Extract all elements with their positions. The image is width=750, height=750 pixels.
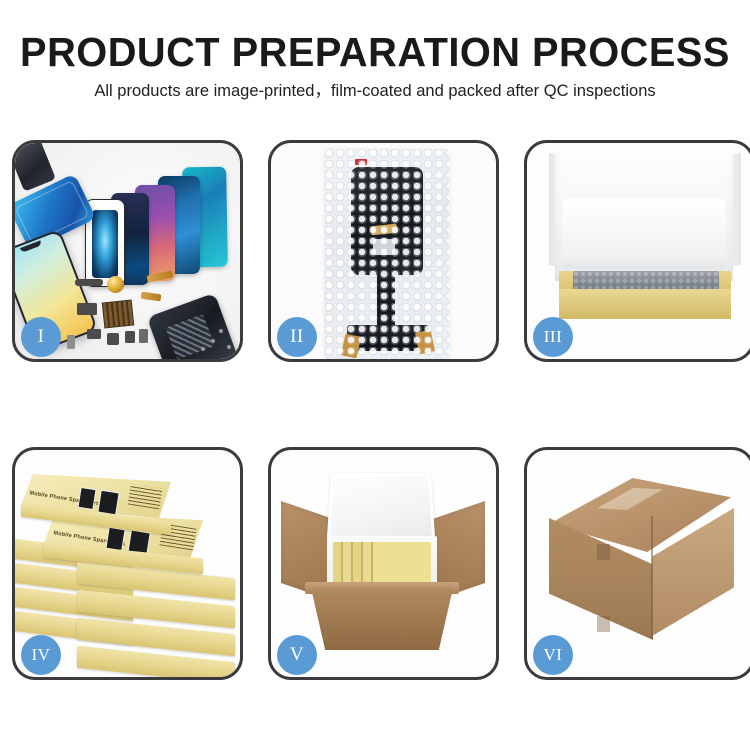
connector-icon — [373, 239, 395, 255]
step-badge-4: IV — [21, 635, 61, 675]
gold-contact-part-icon — [107, 276, 124, 293]
step-badge-label: II — [290, 326, 304, 348]
yellow-boxes-inside-icon — [333, 542, 431, 584]
carton-front-icon — [311, 588, 453, 650]
carton-mark-icon — [597, 544, 610, 560]
step-badge-1: I — [21, 317, 61, 357]
step-badge-6: VI — [533, 635, 573, 675]
connector-part-icon — [77, 303, 97, 315]
adhesive-tape-icon — [341, 334, 361, 359]
step-badge-5: V — [277, 635, 317, 675]
adhesive-tape-icon — [415, 330, 435, 355]
bubble-wrap-bag-icon — [325, 149, 449, 359]
carton-edge-icon — [651, 516, 653, 638]
page-title: PRODUCT PREPARATION PROCESS — [11, 30, 739, 74]
product-preparation-process-page: PRODUCT PREPARATION PROCESS All products… — [0, 0, 750, 750]
step-panel-5[interactable]: V — [268, 447, 499, 680]
qc-sticker-icon — [355, 159, 367, 165]
step-panel-2[interactable]: II — [268, 140, 499, 362]
speaker-part-icon — [75, 279, 103, 286]
small-part-icon — [125, 331, 135, 343]
yellow-box-front-icon — [559, 289, 731, 319]
small-part-icon — [139, 329, 148, 343]
small-part-icon — [87, 329, 101, 339]
step-panel-6[interactable]: VI — [524, 447, 750, 680]
step-badge-label: I — [38, 326, 45, 348]
carton-mark-icon — [597, 616, 610, 632]
small-part-icon — [107, 333, 119, 345]
step-badge-label: VI — [544, 645, 563, 665]
lcd-screen-icon — [351, 167, 423, 275]
header: PRODUCT PREPARATION PROCESS All products… — [0, 30, 750, 101]
step-panel-3[interactable]: III — [524, 140, 750, 362]
step-badge-label: V — [290, 644, 304, 666]
foam-lid-icon — [327, 473, 436, 544]
step-panel-1[interactable]: I — [12, 140, 243, 362]
step-badge-2: II — [277, 317, 317, 357]
page-subtitle: All products are image-printed，film-coat… — [0, 81, 750, 101]
screen-base-icon — [347, 325, 429, 351]
ic-chip-grid-icon — [102, 300, 135, 329]
white-foam-sheet-icon — [563, 199, 725, 269]
step-badge-3: III — [533, 317, 573, 357]
adhesive-tape-icon — [371, 224, 398, 236]
step-badge-label: III — [544, 327, 562, 347]
small-part-icon — [67, 335, 75, 349]
step-panel-4[interactable]: Mobile Phone Spare Parts Mobile Phone Sp… — [12, 447, 243, 680]
flex-ribbon-icon — [377, 269, 395, 335]
step-badge-label: IV — [32, 645, 51, 665]
process-steps-grid: I II — [12, 140, 738, 680]
